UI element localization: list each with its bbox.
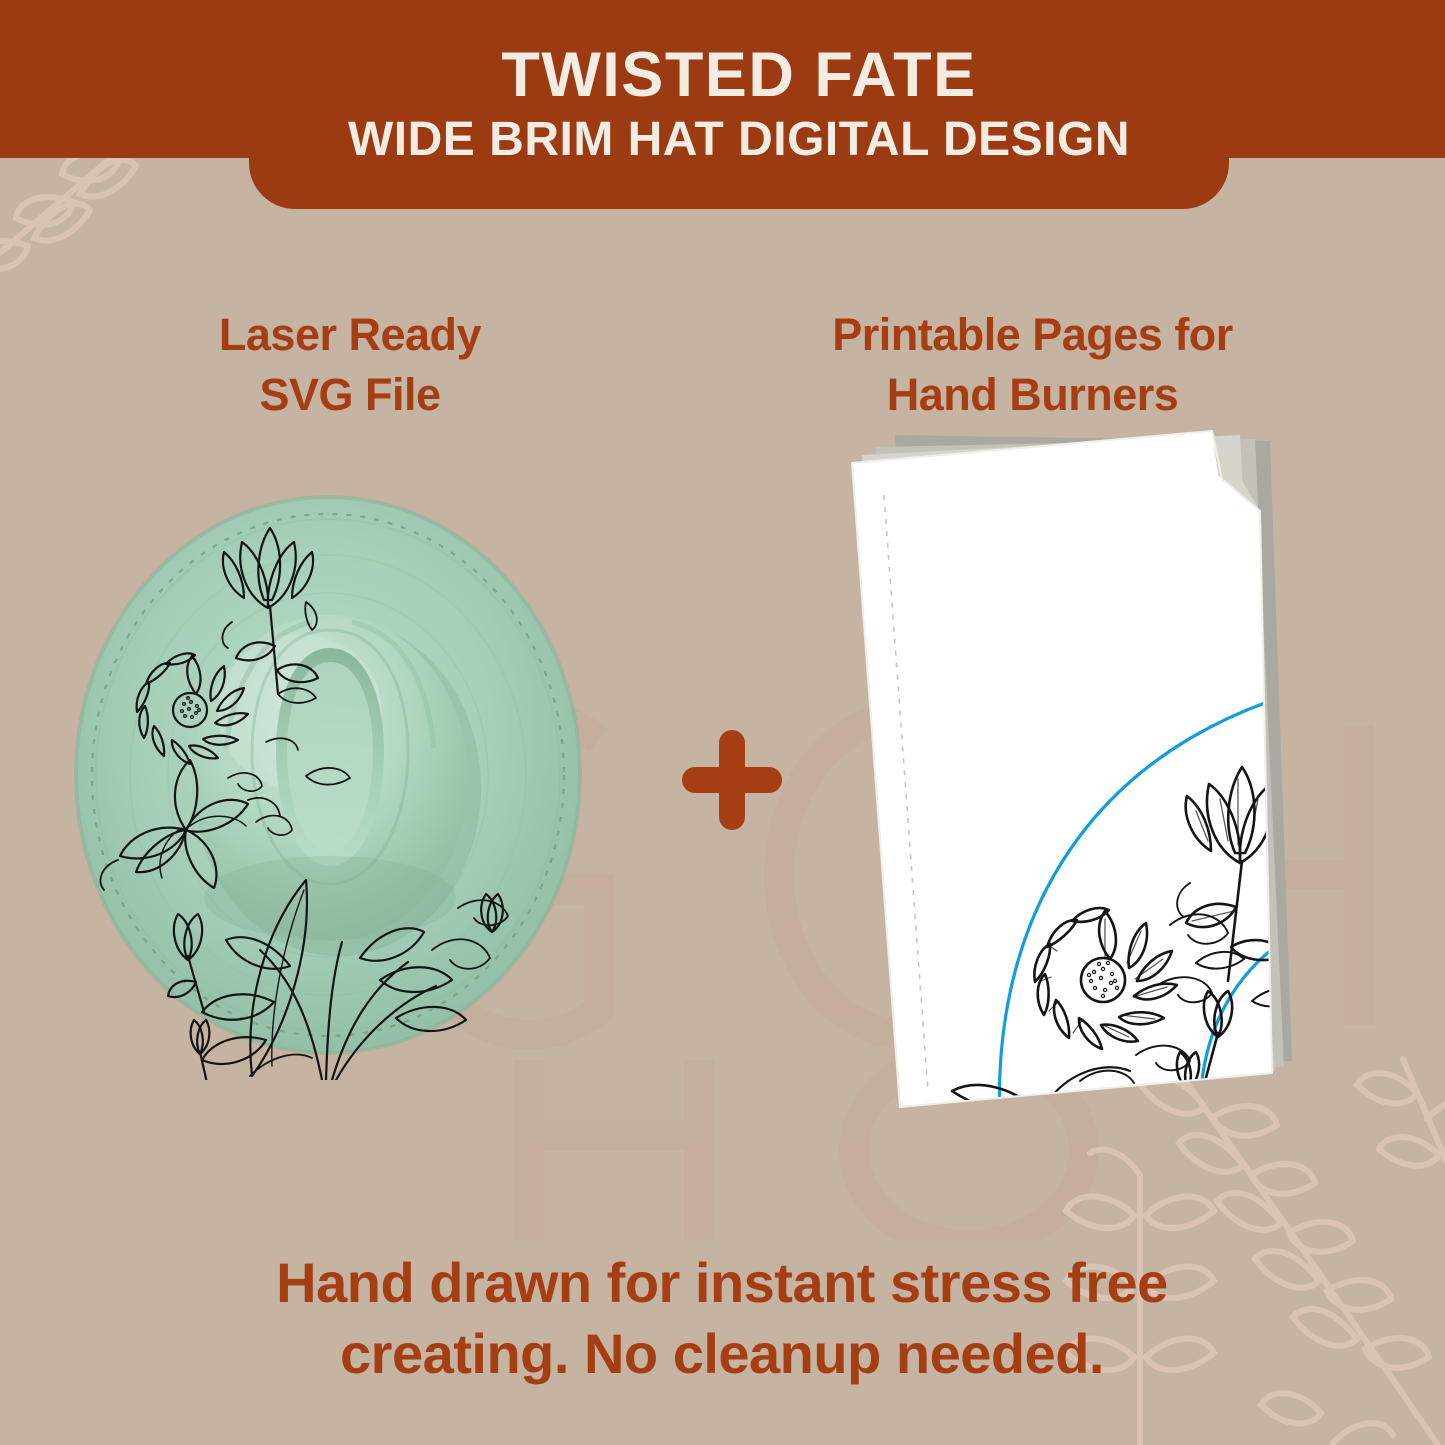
plus-icon <box>677 725 787 835</box>
left-section-heading: Laser Ready SVG File <box>100 305 600 425</box>
left-heading-line-2: SVG File <box>100 365 600 425</box>
tagline-line-2: creating. No cleanup needed. <box>172 1319 1272 1390</box>
header-banner-content: TWISTED FATE WIDE BRIM HAT DIGITAL DESIG… <box>249 0 1229 207</box>
left-heading-line-1: Laser Ready <box>100 305 600 365</box>
right-heading-line-2: Hand Burners <box>755 365 1310 425</box>
product-listing-image: TWISTED FATE WIDE BRIM HAT DIGITAL DESIG… <box>0 0 1445 1445</box>
hat-product-image <box>60 480 620 1080</box>
page-subtitle: WIDE BRIM HAT DIGITAL DESIGN <box>348 115 1130 165</box>
plus-divider <box>677 725 787 835</box>
wide-brim-hat-illustration <box>60 480 620 1080</box>
right-section-heading: Printable Pages for Hand Burners <box>755 305 1310 425</box>
printable-pages-image <box>840 425 1370 1115</box>
paper-stack-illustration <box>840 425 1370 1115</box>
footer-tagline: Hand drawn for instant stress free creat… <box>172 1248 1272 1389</box>
page-title: TWISTED FATE <box>501 42 976 108</box>
right-heading-line-1: Printable Pages for <box>755 305 1310 365</box>
tagline-line-1: Hand drawn for instant stress free <box>172 1248 1272 1319</box>
